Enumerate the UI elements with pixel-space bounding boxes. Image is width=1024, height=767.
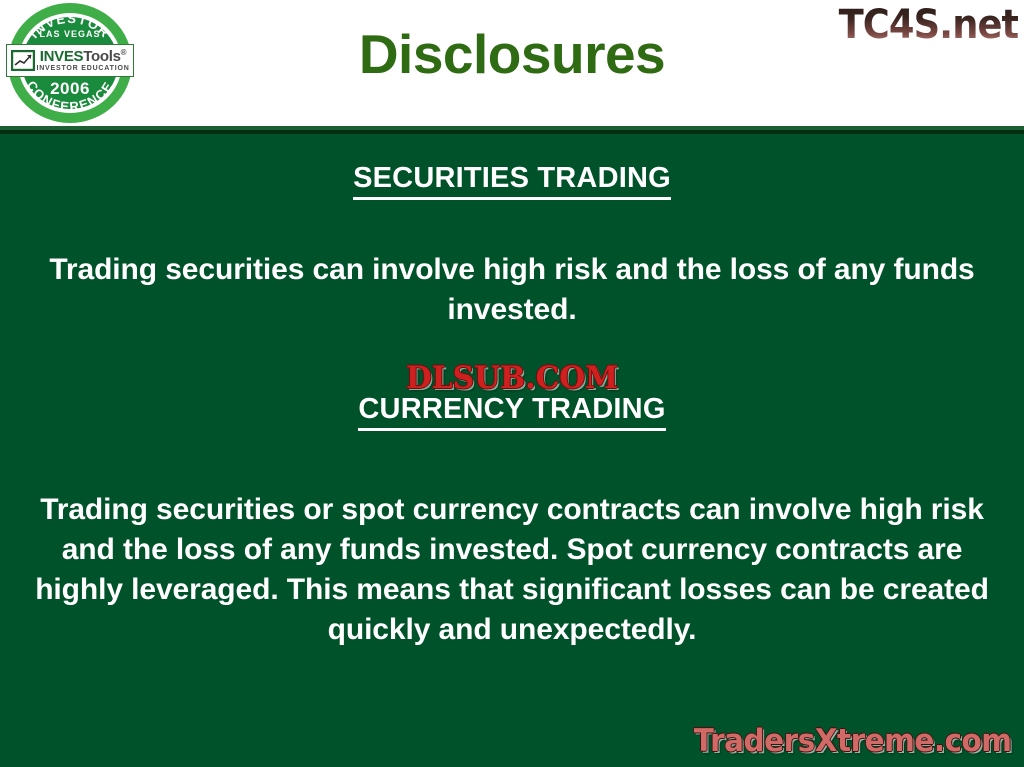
slide-header: INVESTOR CONFERENCE LAS VEGAS 2006 INVES… [0, 0, 1024, 126]
slide-body: SECURITIES TRADING Trading securities ca… [0, 134, 1024, 767]
section-body-currency-trading: Trading securities or spot currency cont… [32, 490, 992, 650]
section-heading-securities-trading: SECURITIES TRADING [0, 162, 1024, 195]
presentation-slide: INVESTOR CONFERENCE LAS VEGAS 2006 INVES… [0, 0, 1024, 767]
section-heading-currency-trading: CURRENCY TRADING [0, 393, 1024, 426]
section-body-securities-trading: Trading securities can involve high risk… [42, 250, 982, 330]
section-heading-securities-trading-label: SECURITIES TRADING [353, 162, 671, 200]
tc4s-watermark: TC4S.net [838, 2, 1018, 48]
section-heading-currency-trading-label: CURRENCY TRADING [358, 393, 665, 431]
tradersxtreme-watermark: TradersXtreme.com [694, 723, 1012, 759]
dlsub-watermark: DLSUB.COM [20, 360, 1003, 396]
